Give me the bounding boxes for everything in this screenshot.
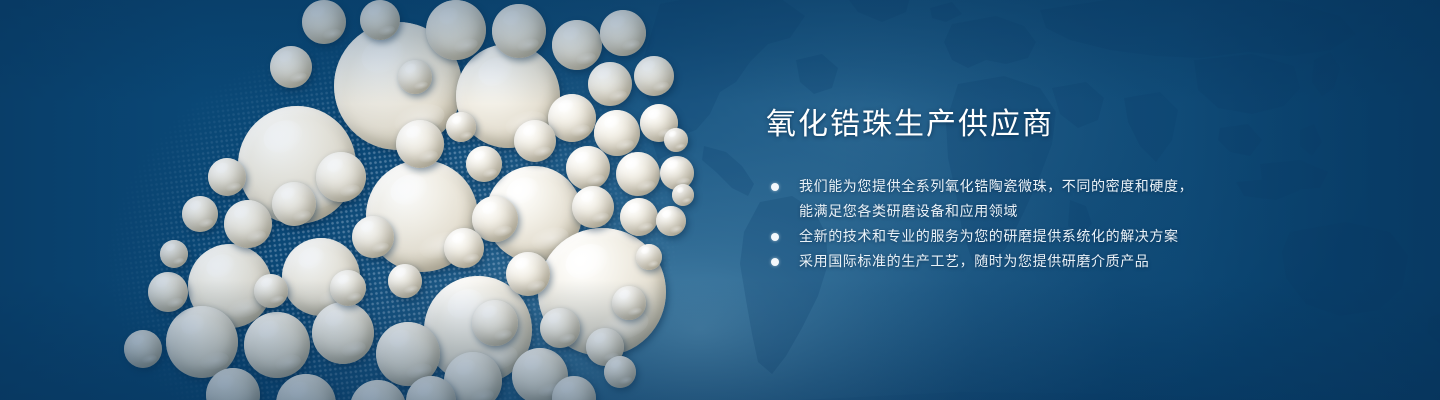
- banner-content: 氧化锆珠生产供应商 我们能为您提供全系列氧化锆陶瓷微珠，不同的密度和硬度， 能满…: [766, 106, 1386, 274]
- bullet-item: 全新的技术和专业的服务为您的研磨提供系统化的解决方案: [766, 224, 1386, 249]
- hero-banner: 氧化锆珠生产供应商 我们能为您提供全系列氧化锆陶瓷微珠，不同的密度和硬度， 能满…: [0, 0, 1440, 400]
- bullet-dot-icon: [771, 258, 779, 266]
- bullet-dot-icon: [771, 233, 779, 241]
- bullet-text-line-1: 采用国际标准的生产工艺，随时为您提供研磨介质产品: [799, 253, 1149, 269]
- banner-bullet-list: 我们能为您提供全系列氧化锆陶瓷微珠，不同的密度和硬度， 能满足您各类研磨设备和应…: [766, 174, 1386, 274]
- bullet-text-line-2: 能满足您各类研磨设备和应用领域: [799, 199, 1386, 224]
- bullet-text-line-1: 全新的技术和专业的服务为您的研磨提供系统化的解决方案: [799, 228, 1179, 244]
- bullet-text-line-1: 我们能为您提供全系列氧化锆陶瓷微珠，不同的密度和硬度，: [799, 178, 1193, 194]
- bullet-item: 采用国际标准的生产工艺，随时为您提供研磨介质产品: [766, 249, 1386, 274]
- bullet-item: 我们能为您提供全系列氧化锆陶瓷微珠，不同的密度和硬度， 能满足您各类研磨设备和应…: [766, 174, 1386, 224]
- banner-headline: 氧化锆珠生产供应商: [766, 106, 1386, 144]
- bullet-dot-icon: [771, 183, 779, 191]
